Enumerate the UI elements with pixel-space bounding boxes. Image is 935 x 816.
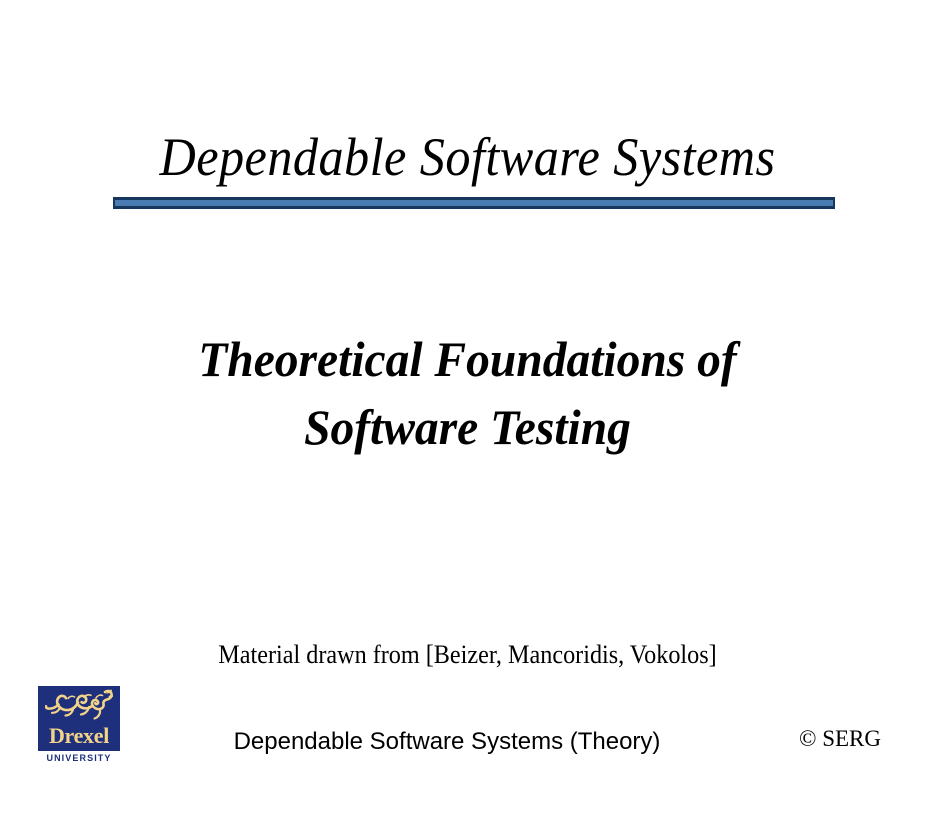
- logo-wordmark: Drexel: [38, 724, 120, 748]
- footer-copyright: © SERG: [760, 726, 920, 752]
- drexel-dragon-icon: [45, 688, 113, 726]
- title-divider-bar: [113, 197, 835, 209]
- attribution-text: Material drawn from [Beizer, Mancoridis,…: [33, 640, 903, 670]
- main-heading-line-2: Software Testing: [23, 393, 911, 461]
- presentation-slide: Dependable Software Systems Theoretical …: [0, 0, 935, 816]
- main-heading-line-1: Theoretical Foundations of: [23, 325, 911, 393]
- logo-subtext: UNIVERSITY: [38, 752, 120, 764]
- footer-center-text: Dependable Software Systems (Theory): [150, 728, 744, 756]
- main-heading: Theoretical Foundations of Software Test…: [23, 325, 911, 461]
- drexel-university-logo: Drexel UNIVERSITY: [38, 686, 120, 768]
- slide-title: Dependable Software Systems: [33, 126, 903, 188]
